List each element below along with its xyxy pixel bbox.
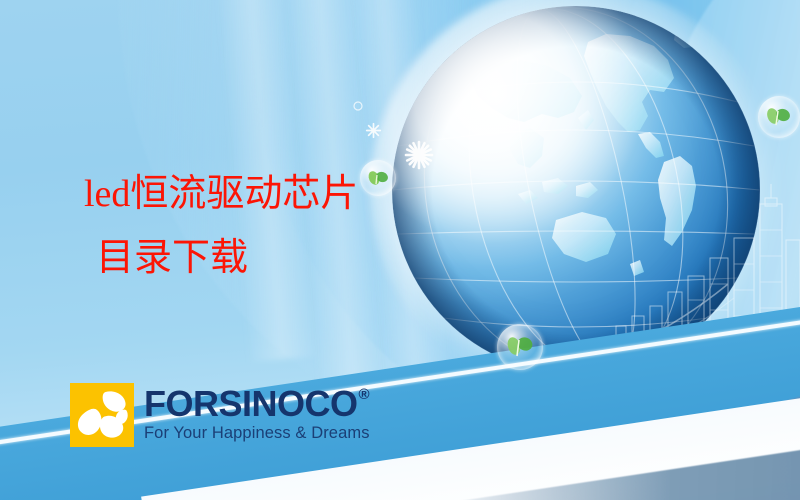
logo-wordmark-text: FORSINOCO (144, 385, 358, 423)
bottom-band-steel-upper (593, 313, 800, 500)
background-sweep-3 (330, 0, 800, 428)
headline-block: led恒流驱动芯片 目录下载 (84, 162, 358, 290)
city-skyline-graphic (610, 180, 800, 370)
company-logo: FORSINOCO ® For Your Happiness & Dreams (70, 383, 370, 447)
bubble-with-leaf-icon-1 (360, 160, 396, 196)
globe-svg (392, 6, 760, 374)
globe-glow (370, 0, 782, 396)
bottom-band-steel (422, 403, 800, 500)
pinwheel-petals-svg (70, 383, 134, 447)
earth-globe-graphic (392, 6, 760, 374)
globe-sphere (392, 6, 760, 374)
background-light-streak-3 (343, 0, 450, 372)
sparkle-flower-icon (404, 140, 434, 170)
headline-line-2: 目录下载 (96, 226, 358, 290)
background-sweep-5 (520, 0, 800, 360)
leaf-icon-1 (360, 160, 396, 196)
globe-grid (392, 6, 760, 374)
background-sweep-right-1 (563, 0, 800, 447)
headline-line-1: led恒流驱动芯片 (84, 162, 358, 226)
sparkle-ring-icon (352, 100, 364, 112)
globe-continents (470, 22, 706, 276)
logo-tagline: For Your Happiness & Dreams (144, 424, 370, 443)
sparkle-flower-icon-small (365, 122, 382, 139)
logo-text-block: FORSINOCO ® For Your Happiness & Dreams (144, 383, 370, 443)
logo-wordmark: FORSINOCO ® (144, 385, 370, 423)
background-sweep-highlight (464, 0, 800, 373)
background-sweep-4 (418, 0, 800, 398)
registered-trademark-icon: ® (359, 387, 370, 402)
bubble-with-leaf-icon-2 (497, 324, 543, 370)
leaf-icon-2 (497, 324, 543, 370)
background-sweep-right-2 (614, 0, 800, 422)
banner-root: led恒流驱动芯片 目录下载 FORSINOCO ® (0, 0, 800, 500)
four-petal-pinwheel-icon (70, 383, 134, 447)
bubble-with-leaf-icon-3 (758, 96, 800, 138)
leaf-icon-3 (758, 96, 800, 138)
